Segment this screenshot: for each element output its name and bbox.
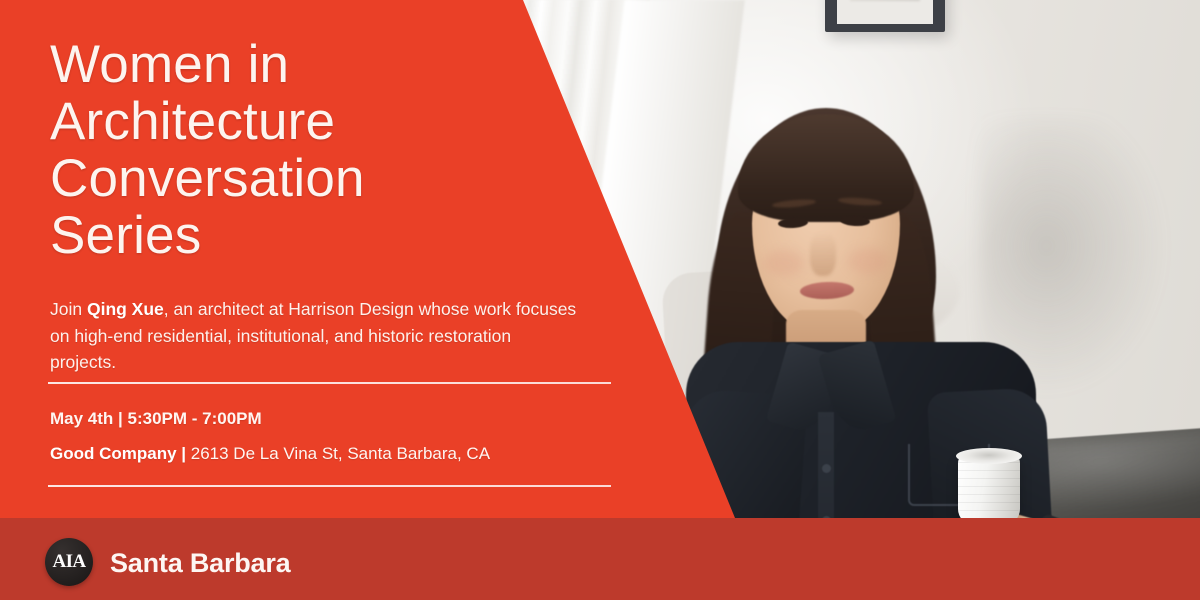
footer-bar: AIA Santa Barbara — [0, 518, 1200, 600]
event-datetime: May 4th | 5:30PM - 7:00PM — [50, 408, 262, 430]
chapter-name: Santa Barbara — [110, 548, 290, 579]
shirt-button — [822, 464, 831, 473]
speaker-name: Qing Xue — [87, 299, 164, 319]
cheek — [764, 250, 804, 276]
description-lead: Join — [50, 299, 87, 319]
framed-artwork — [825, 0, 945, 32]
frame-artwork-image — [850, 0, 919, 1]
mug-rim — [956, 448, 1022, 464]
page-title: Women in Architecture Conversation Serie… — [50, 36, 570, 264]
hair-top — [738, 114, 914, 222]
divider-top — [48, 382, 611, 384]
venue-address: 2613 De La Vina St, Santa Barbara, CA — [191, 444, 490, 463]
frame-mat — [837, 0, 933, 24]
nose — [810, 232, 836, 276]
divider-bottom — [48, 485, 611, 487]
event-description: Join Qing Xue, an architect at Harrison … — [50, 296, 580, 376]
event-poster: Women in Architecture Conversation Serie… — [0, 0, 1200, 600]
poster-content: Women in Architecture Conversation Serie… — [0, 0, 640, 520]
cheek — [848, 248, 888, 274]
aia-logo-text: AIA — [52, 551, 85, 573]
mug-ribbing — [958, 462, 1020, 520]
aia-logo-icon: AIA — [45, 538, 93, 586]
venue-separator: | — [177, 444, 191, 463]
event-location: Good Company | 2613 De La Vina St, Santa… — [50, 443, 490, 465]
venue-name: Good Company — [50, 444, 177, 463]
